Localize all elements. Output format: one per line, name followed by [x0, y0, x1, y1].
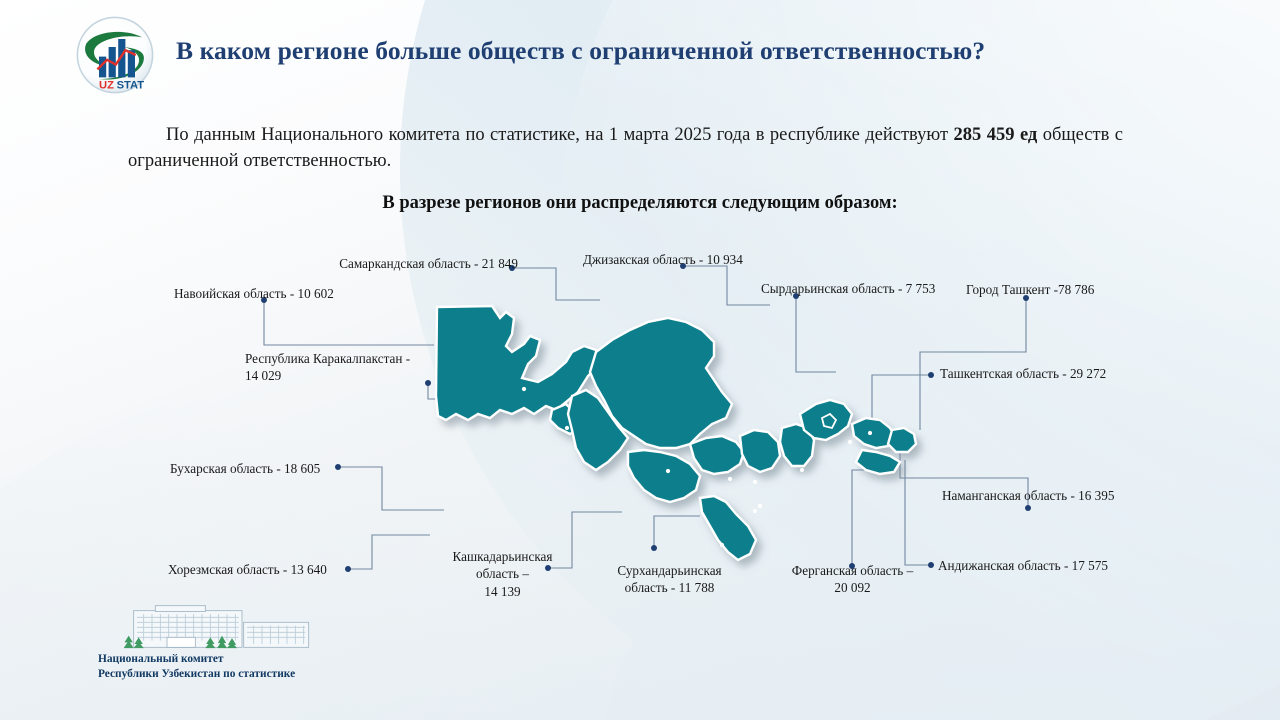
- leader-navoiy: [264, 300, 434, 345]
- map-shape-group: [436, 306, 916, 560]
- leader-samarkand: [512, 268, 600, 300]
- footer-organization-name: Национальный комитет Республики Узбекист…: [98, 652, 398, 683]
- region-label-karakalpak: Республика Каракалпакстан - 14 029: [245, 350, 445, 385]
- leader-andijan: [905, 460, 931, 565]
- region-label-namangan: Наманганская область - 16 395: [942, 487, 1172, 504]
- region-label-kashkadarya: Кашкадарьинская область – 14 139: [430, 548, 575, 600]
- infographic-slide: UZ STAT В каком регионе больше обществ с…: [0, 0, 1280, 720]
- region-label-andijan: Андижанская область - 17 575: [938, 557, 1163, 574]
- region-kashkadarya: [628, 450, 700, 502]
- region-label-samarkand: Самаркандская область - 21 849: [318, 255, 518, 272]
- committee-building-illustration: [92, 604, 392, 654]
- leader-surkhandarya: [654, 516, 700, 548]
- region-surkhandarya: [700, 496, 756, 560]
- region-label-bukhara: Бухарская область - 18 605: [170, 460, 380, 477]
- leader-fergana: [852, 470, 870, 566]
- region-label-khorezm: Хорезмская область - 13 640: [168, 561, 383, 578]
- leader-tashkent-city: [920, 298, 1026, 430]
- region-label-surkhandarya: Сурхандарьинская область - 11 788: [597, 562, 742, 597]
- region-jizzakh: [740, 430, 780, 472]
- region-label-navoiy: Навоийская область - 10 602: [174, 285, 394, 302]
- region-label-jizzakh: Джизакская область - 10 934: [583, 251, 803, 268]
- region-label-tashkent-obl: Ташкентская область - 29 272: [940, 365, 1160, 382]
- leader-jizzakh: [683, 266, 770, 305]
- region-label-tashkent-city: Город Ташкент -78 786: [966, 281, 1146, 298]
- region-label-fergana: Ферганская область – 20 092: [775, 562, 930, 597]
- region-label-sirdaryo: Сырдарьинская область - 7 753: [761, 280, 991, 297]
- leader-sirdaryo: [796, 296, 836, 372]
- region-andijan: [888, 428, 916, 452]
- region-samarkand: [690, 436, 744, 474]
